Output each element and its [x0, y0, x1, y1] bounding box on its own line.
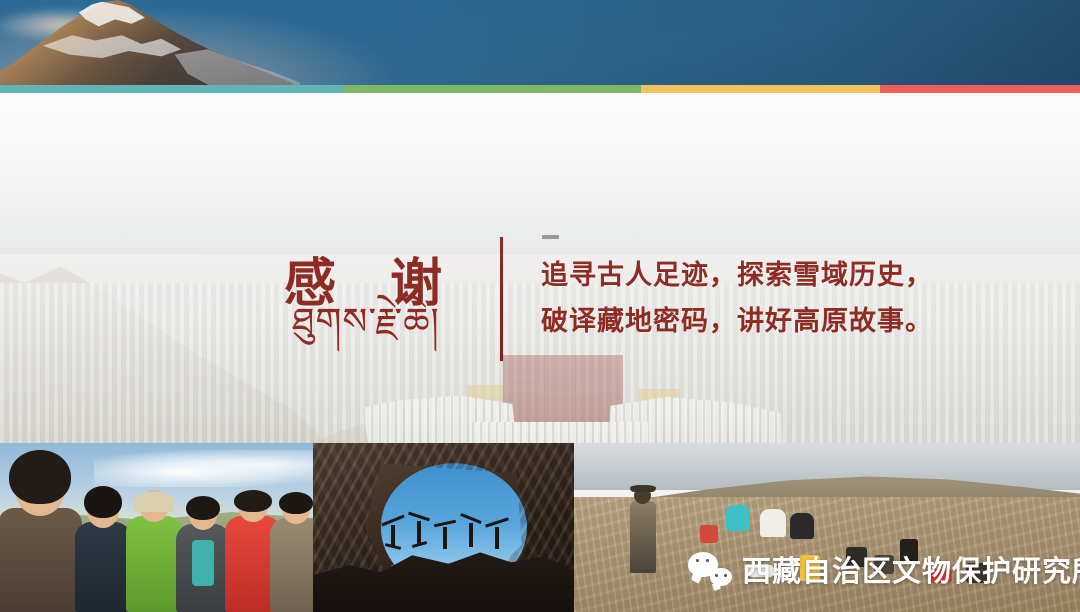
excavation-site-photo	[574, 443, 1080, 612]
tagline-text: 追寻古人足迹，探索雪域历史， 破译藏地密码，讲好高原故事。	[541, 253, 1061, 346]
colorbar-segment-yellow	[641, 85, 880, 93]
thanks-title-tibetan: ཐུགས་རྗེ་ཆེ།	[292, 299, 440, 345]
color-divider-bar	[0, 85, 1080, 93]
p3-worker-1	[726, 505, 750, 531]
cave-silhouette-photo	[313, 443, 574, 612]
team-group-photo	[0, 443, 313, 612]
p3-yellow-gear	[800, 555, 820, 581]
photo-strip	[0, 443, 1080, 612]
tagline-line-2: 破译藏地密码，讲好高原故事。	[541, 299, 1061, 345]
colorbar-segment-teal	[0, 85, 344, 93]
tagline-line-1: 追寻古人足迹，探索雪域历史，	[541, 253, 1061, 299]
p3-worker-3	[790, 513, 814, 539]
p3-bucket-3	[966, 563, 989, 583]
p3-dark-gear	[900, 539, 918, 563]
p3-bucket-2	[874, 555, 894, 574]
p3-walking-figure-hat	[630, 485, 656, 492]
headline-block: 感 谢 ཐུགས་རྗེ་ཆེ། 追寻古人足迹，探索雪域历史， 破译藏地密码，讲…	[0, 93, 1080, 443]
colorbar-segment-red	[880, 85, 1080, 93]
p3-walking-figure	[630, 501, 656, 573]
p3-white-tray	[748, 565, 774, 577]
p2-jumper-2	[417, 521, 421, 545]
p2-jumper-3	[443, 527, 447, 549]
p3-backpack	[700, 525, 718, 543]
p1-person-6	[268, 482, 313, 612]
vertical-divider-rule	[500, 237, 503, 361]
presentation-slide: 感 谢 ཐུགས་རྗེ་ཆེ། 追寻古人足迹，探索雪域历史， 破译藏地密码，讲…	[0, 0, 1080, 612]
small-dash-marker	[542, 235, 559, 239]
p3-worker-2	[760, 509, 786, 537]
p2-jumper-4	[469, 523, 473, 547]
p3-red-bag	[930, 569, 952, 583]
p3-bucket-1	[846, 547, 867, 567]
p2-jumper-5	[495, 527, 499, 549]
banner-mountain-photo	[0, 0, 1080, 88]
colorbar-segment-green	[344, 85, 641, 93]
